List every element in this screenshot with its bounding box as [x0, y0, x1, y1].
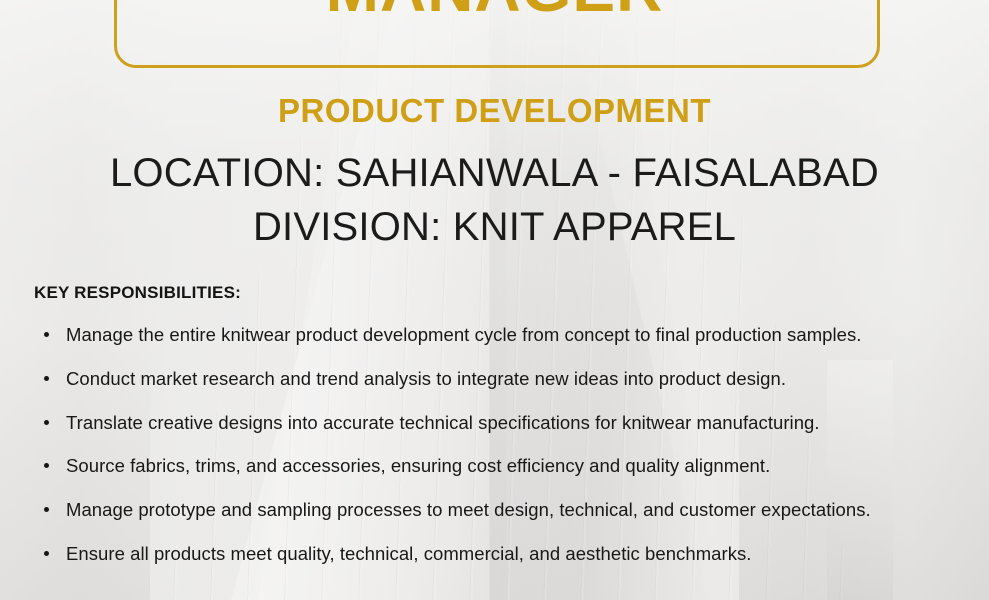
responsibility-text: Ensure all products meet quality, techni…: [66, 541, 960, 568]
bullet-dot-icon: [44, 463, 49, 468]
job-posting-poster: MANAGER PRODUCT DEVELOPMENT LOCATION: SA…: [0, 0, 989, 600]
responsibility-text: Translate creative designs into accurate…: [66, 410, 960, 437]
poster-content: MANAGER PRODUCT DEVELOPMENT LOCATION: SA…: [0, 0, 989, 600]
location-line: LOCATION: SAHIANWALA - FAISALABAD: [0, 147, 989, 201]
list-item: Manage the entire knitwear product devel…: [34, 322, 960, 349]
list-item: Translate creative designs into accurate…: [34, 410, 960, 437]
list-item: Conduct market research and trend analys…: [34, 366, 960, 393]
list-item: Source fabrics, trims, and accessories, …: [34, 453, 960, 480]
responsibility-text: Conduct market research and trend analys…: [66, 366, 960, 393]
bullet-dot-icon: [44, 376, 49, 381]
responsibility-text: Manage the entire knitwear product devel…: [66, 322, 960, 349]
bullet-dot-icon: [44, 420, 49, 425]
responsibility-text: Source fabrics, trims, and accessories, …: [66, 453, 960, 480]
job-meta-block: LOCATION: SAHIANWALA - FAISALABAD DIVISI…: [0, 147, 989, 254]
bullet-dot-icon: [44, 507, 49, 512]
responsibility-text: Manage prototype and sampling processes …: [66, 497, 960, 524]
bullet-dot-icon: [44, 551, 49, 556]
division-line: DIVISION: KNIT APPAREL: [0, 201, 989, 255]
bullet-dot-icon: [44, 332, 49, 337]
department-subtitle: PRODUCT DEVELOPMENT: [0, 92, 989, 130]
responsibilities-list: Manage the entire knitwear product devel…: [34, 322, 960, 568]
list-item: Ensure all products meet quality, techni…: [34, 541, 960, 568]
job-title: MANAGER: [0, 0, 989, 23]
list-item: Manage prototype and sampling processes …: [34, 497, 960, 524]
key-responsibilities-heading: KEY RESPONSIBILITIES:: [34, 283, 241, 303]
